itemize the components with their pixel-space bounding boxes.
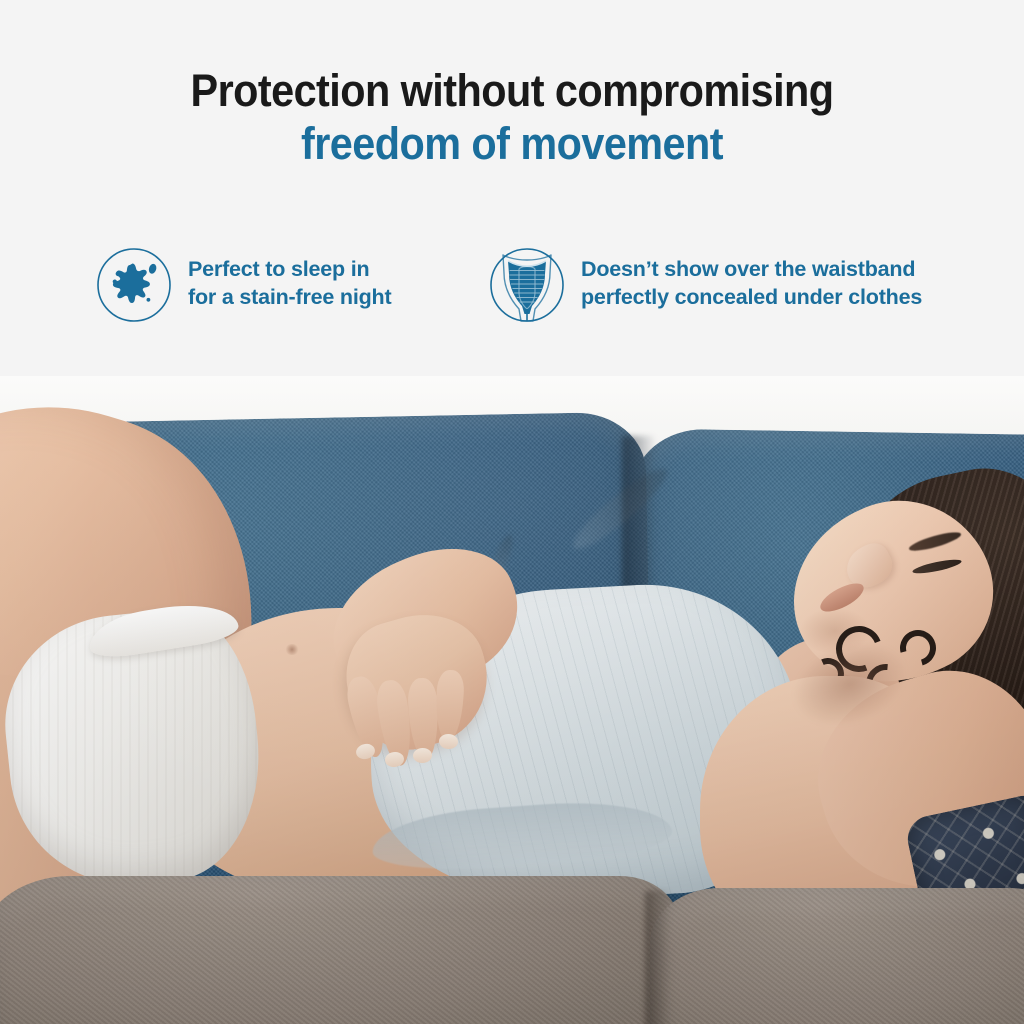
sofa-seat-seam xyxy=(645,891,671,1024)
top-text-panel: Protection without compromising freedom … xyxy=(0,0,1024,376)
feature-list: Perfect to sleep in for a stain-free nig… xyxy=(0,243,1024,343)
headline-line-1: Protection without compromising xyxy=(41,68,983,114)
page-title: Protection without compromising freedom … xyxy=(0,68,1024,167)
feature-item-stain-free: Perfect to sleep in for a stain-free nig… xyxy=(96,243,391,323)
lifestyle-photo xyxy=(0,376,1024,1024)
feature-label: Doesn’t show over the waistband perfectl… xyxy=(581,255,922,312)
splash-stain-icon xyxy=(96,247,172,323)
feature-label-line-2: perfectly concealed under clothes xyxy=(581,283,922,311)
absorbent-brief-icon xyxy=(489,247,565,323)
feature-label: Perfect to sleep in for a stain-free nig… xyxy=(188,255,391,312)
sofa-seat-cushion-left xyxy=(0,876,680,1024)
headline-line-2: freedom of movement xyxy=(41,121,983,167)
navel xyxy=(285,644,299,655)
feature-label-line-2: for a stain-free night xyxy=(188,283,391,311)
sofa-seat-cushion-right xyxy=(650,888,1024,1024)
feature-label-line-1: Perfect to sleep in xyxy=(188,255,391,283)
feature-item-concealed: Doesn’t show over the waistband perfectl… xyxy=(489,243,922,323)
product-feature-ad: Protection without compromising freedom … xyxy=(0,0,1024,1024)
feature-label-line-1: Doesn’t show over the waistband xyxy=(581,255,922,283)
